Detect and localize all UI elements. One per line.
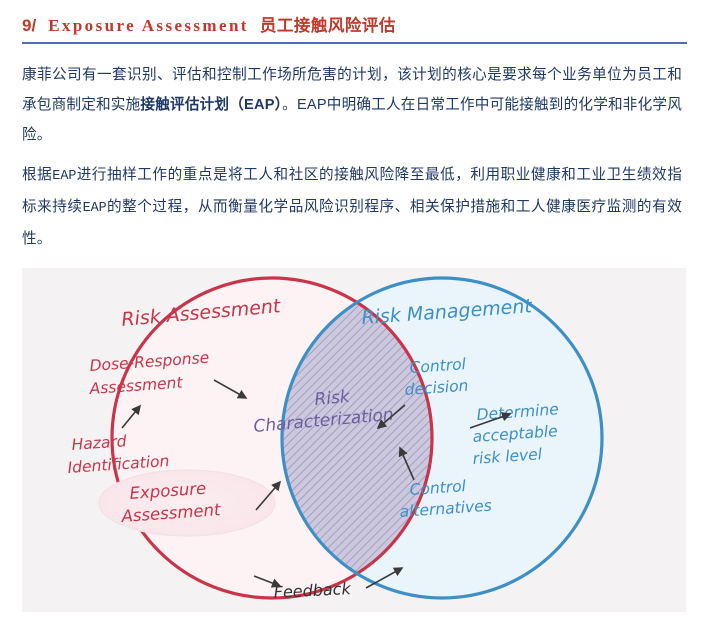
section-title-chinese: 员工接触风险评估 [260, 12, 396, 36]
feedback-label: Feedback [273, 579, 352, 602]
section-title-english: Exposure Assessment [48, 16, 249, 36]
left-item-1-line1: Hazard [71, 432, 127, 454]
paragraph-2-part3: 的整个过程，从而衡量化学品风险识别程序、相关保护措施和工人健康医疗监测的有效性。 [22, 199, 682, 247]
paragraph-2-mono1: EAP [52, 169, 76, 184]
venn-diagram-svg: Risk Assessment Risk Management Risk Cha… [22, 268, 686, 612]
section-heading: 9/ Exposure Assessment 员工接触风险评估 [22, 0, 686, 42]
paragraph-2: 根据EAP进行抽样工作的重点是将工人和社区的接触风险降至最低，利用职业健康和工业… [22, 160, 682, 254]
overlap-label-line1: Risk [314, 387, 352, 410]
venn-diagram-figure: Risk Assessment Risk Management Risk Cha… [22, 268, 686, 612]
paragraph-2-part1: 根据 [22, 167, 52, 183]
paragraph-1: 康菲公司有一套识别、评估和控制工作场所危害的计划，该计划的核心是要求每个业务单位… [22, 60, 682, 150]
paragraph-2-mono2: EAP [83, 201, 107, 216]
heading-divider [22, 42, 687, 44]
section-number: 9/ [22, 16, 36, 36]
paragraph-1-bold: 接触评估计划（EAP） [140, 97, 282, 113]
document-page: 9/ Exposure Assessment 员工接触风险评估 康菲公司有一套识… [0, 0, 708, 644]
